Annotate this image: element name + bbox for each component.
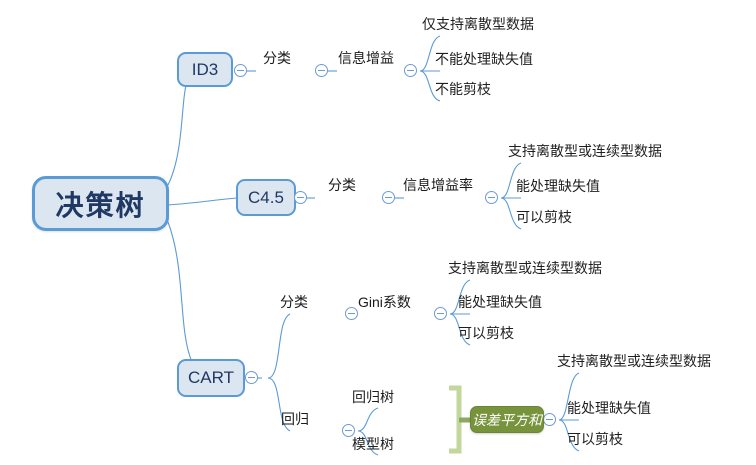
collapse-minus-icon[interactable]: [485, 191, 498, 204]
cart-classification-feature-label: 支持离散型或连续型数据: [448, 261, 602, 276]
mindmap-canvas: 决策树 ID3 C4.5 CART 分类 信息增益 仅支持离散型数据 不能处理缺…: [0, 0, 756, 465]
branch-node-c45[interactable]: C4.5: [236, 179, 296, 216]
c45-feature-label: 可以剪枝: [516, 210, 572, 225]
cart-classification-feature-label: 能处理缺失值: [458, 295, 542, 310]
c45-criterion-label: 信息增益率: [403, 178, 473, 193]
collapse-minus-icon[interactable]: [234, 64, 247, 77]
collapse-minus-icon[interactable]: [382, 191, 395, 204]
collapse-minus-icon[interactable]: [543, 413, 556, 426]
id3-task-label: 分类: [263, 51, 291, 66]
collapse-minus-icon[interactable]: [404, 64, 417, 77]
cart-regression-tree-label: 模型树: [352, 437, 394, 452]
collapse-minus-icon[interactable]: [345, 307, 358, 320]
collapse-minus-icon[interactable]: [315, 64, 328, 77]
collapse-minus-icon[interactable]: [294, 191, 307, 204]
cart-classification-feature-label: 可以剪枝: [458, 326, 514, 341]
branch-node-cart-label: CART: [188, 368, 234, 388]
id3-feature-label: 不能剪枝: [435, 82, 491, 97]
root-node-label: 决策树: [55, 184, 145, 224]
branch-node-cart[interactable]: CART: [177, 359, 245, 397]
c45-task-label: 分类: [328, 178, 356, 193]
id3-feature-label: 不能处理缺失值: [435, 52, 533, 67]
collapse-minus-icon[interactable]: [434, 307, 447, 320]
collapse-minus-icon[interactable]: [245, 371, 258, 384]
cart-regression-feature-label: 支持离散型或连续型数据: [557, 354, 711, 369]
branch-node-id3-label: ID3: [192, 60, 218, 80]
c45-feature-label: 能处理缺失值: [516, 179, 600, 194]
id3-criterion-label: 信息增益: [338, 51, 394, 66]
id3-feature-label: 仅支持离散型数据: [422, 17, 534, 32]
c45-feature-label: 支持离散型或连续型数据: [508, 144, 662, 159]
cart-regression-tree-label: 回归树: [352, 390, 394, 405]
cart-classification-task-label: 分类: [280, 295, 308, 310]
cart-regression-feature-label: 可以剪枝: [567, 432, 623, 447]
cart-regression-criterion-label: 误差平方和: [472, 410, 542, 430]
branch-node-id3[interactable]: ID3: [177, 52, 233, 87]
cart-regression-criterion-callout[interactable]: 误差平方和: [470, 406, 544, 433]
cart-regression-task-label: 回归: [281, 412, 309, 427]
cart-classification-criterion-label: Gini系数: [358, 295, 411, 310]
cart-regression-feature-label: 能处理缺失值: [567, 401, 651, 416]
root-node[interactable]: 决策树: [32, 176, 169, 231]
branch-node-c45-label: C4.5: [248, 188, 284, 208]
